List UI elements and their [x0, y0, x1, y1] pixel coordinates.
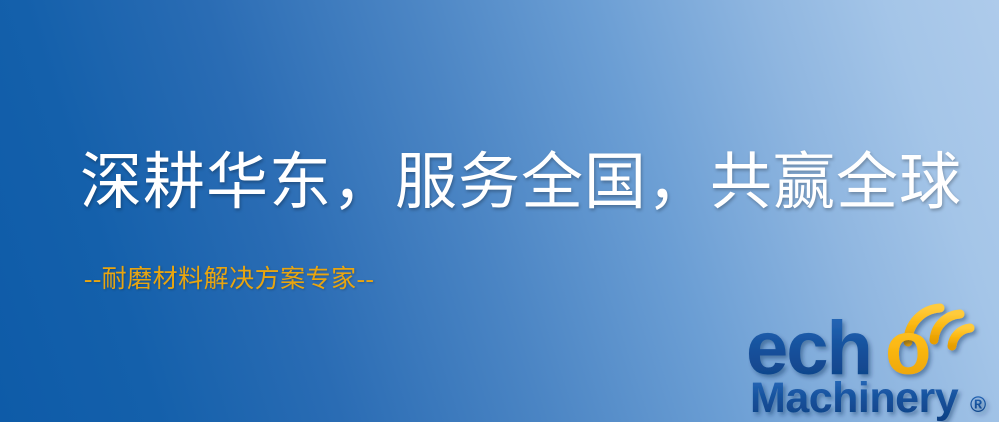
banner-headline: 深耕华东，服务全国，共赢全球	[80, 152, 962, 214]
banner-subtitle: --耐磨材料解决方案专家--	[84, 266, 374, 294]
svg-text:Machinery: Machinery	[750, 374, 959, 422]
logo-machinery-text: Machinery ®	[750, 374, 986, 422]
registered-trademark-icon: ®	[970, 392, 986, 417]
hero-banner: 深耕华东，服务全国，共赢全球 --耐磨材料解决方案专家--	[0, 0, 999, 422]
echo-machinery-logo[interactable]: ech o Machinery ®	[748, 296, 999, 422]
